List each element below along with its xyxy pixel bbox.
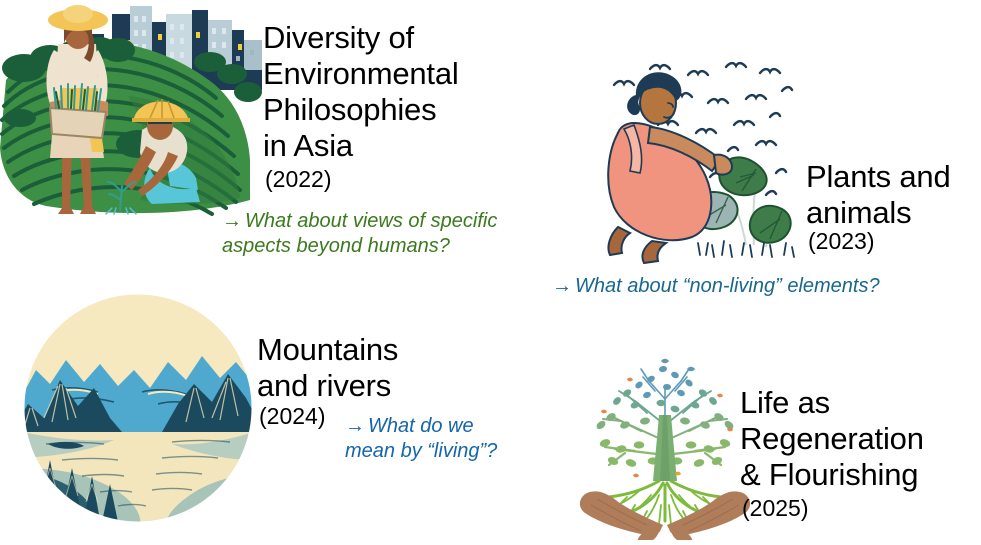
item-note-mountains: →What do we mean by “living”? <box>345 414 535 464</box>
arrow-icon-mountains: → <box>345 415 368 437</box>
item-title-mountains: Mountains and rivers <box>257 332 398 404</box>
item-note-asia: →What about views of specific aspects be… <box>222 209 582 259</box>
item-note-text-asia: What about views of specific aspects bey… <box>222 210 497 257</box>
kneeling-woman-figure <box>608 72 732 263</box>
circular-mountains-lake-illustration <box>22 292 254 524</box>
tree-svg <box>575 355 755 540</box>
arrow-icon-plants: → <box>552 275 575 297</box>
mountains-scene <box>22 292 254 524</box>
mountains-svg <box>22 292 254 524</box>
terraces-svg <box>0 0 262 222</box>
item-year-mountains: (2024) <box>259 403 325 430</box>
terraced-fields-farmers-city-illustration <box>0 0 262 222</box>
item-note-text-mountains: What do we mean by “living”? <box>345 415 497 462</box>
item-year-life: (2025) <box>742 495 808 522</box>
arrow-icon-asia: → <box>222 210 245 232</box>
tree-trunk <box>653 415 677 481</box>
item-note-text-plants: What about “non-living” elements? <box>575 275 880 297</box>
item-note-plants: →What about “non-living” elements? <box>552 274 981 299</box>
item-year-plants: (2023) <box>808 228 874 255</box>
plants-svg <box>596 55 816 280</box>
item-title-asia: Diversity of Environmental Philosophies … <box>263 20 459 164</box>
item-title-plants: Plants and animals <box>806 159 951 231</box>
slide-canvas: Diversity of Environmental Philosophies … <box>0 0 981 545</box>
item-year-asia: (2022) <box>265 166 331 193</box>
woman-touching-leaves-birds-illustration <box>596 55 816 280</box>
tree-roots-held-by-hands-illustration <box>575 355 755 540</box>
item-title-life: Life as Regeneration & Flourishing <box>740 385 924 493</box>
